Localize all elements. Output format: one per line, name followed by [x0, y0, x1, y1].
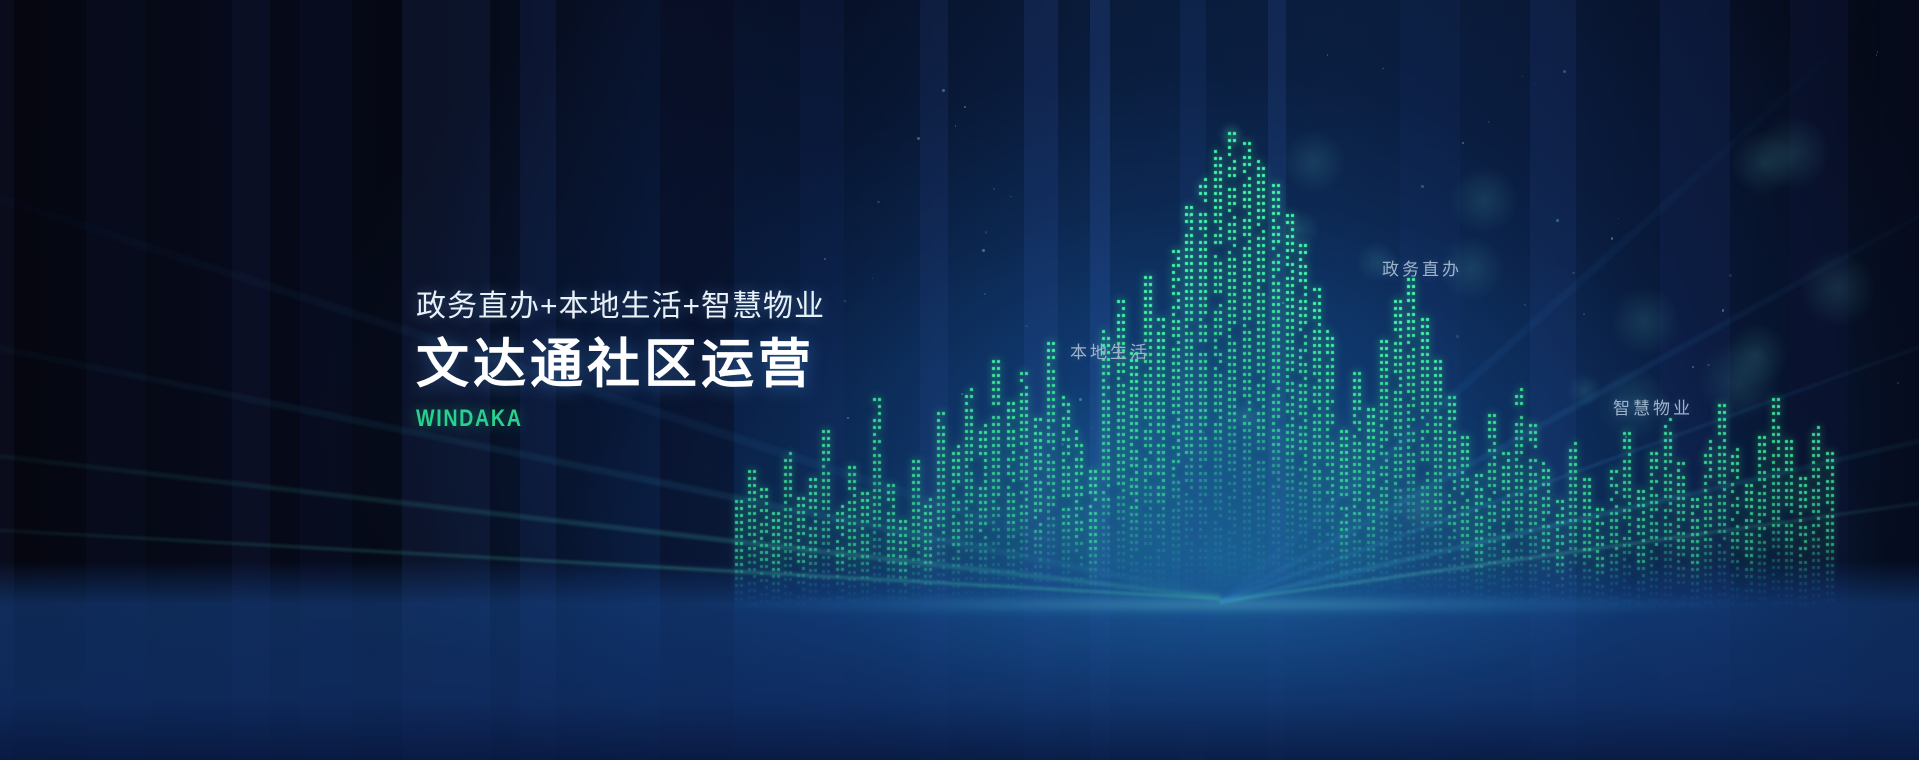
banner-subtitle: 政务直办+本地生活+智慧物业	[416, 292, 825, 322]
brand-wordmark: WINDAKA	[416, 405, 751, 433]
hero-banner: 政务直办本地生活智慧物业 政务直办+本地生活+智慧物业 文达通社区运营 WIND…	[0, 0, 1919, 760]
headline-block: 政务直办+本地生活+智慧物业 文达通社区运营 WINDAKA	[416, 292, 825, 433]
banner-headline: 文达通社区运营	[416, 338, 825, 391]
floating-label-2: 本地生活	[1070, 338, 1150, 363]
floating-label-1: 政务直办	[1382, 255, 1462, 280]
ground-plane	[0, 560, 1919, 760]
floating-label-3: 智慧物业	[1613, 394, 1693, 419]
